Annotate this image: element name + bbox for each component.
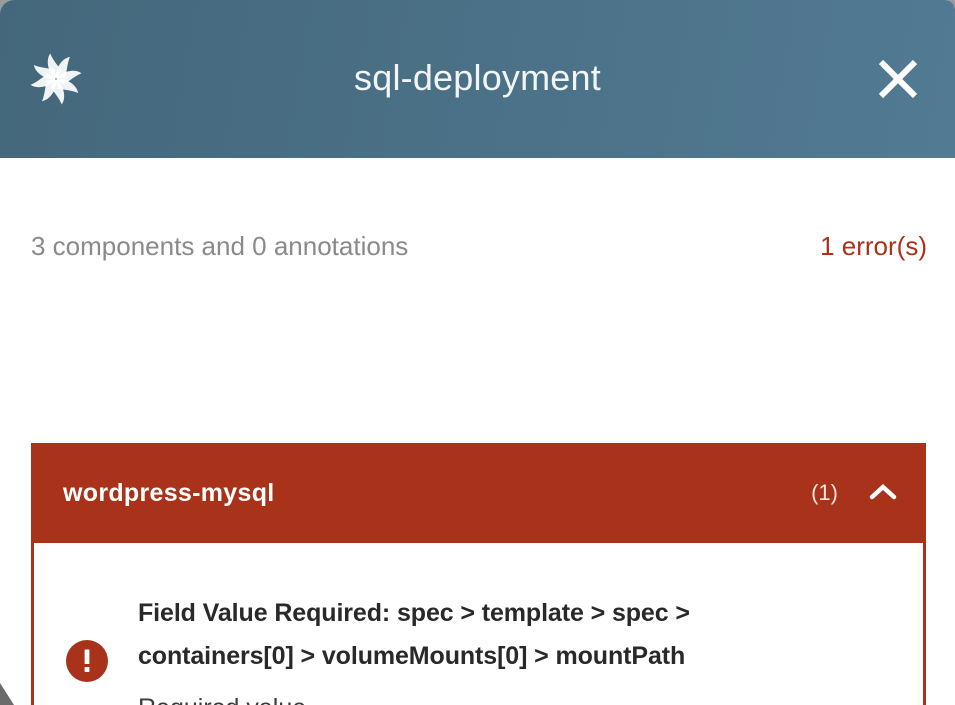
error-count-label: 1 error(s) [820, 229, 927, 263]
error-exclamation-icon [66, 640, 108, 682]
close-button[interactable] [869, 50, 927, 108]
accordion-panel: Field Value Required: spec > template > … [31, 543, 926, 705]
accordion-title: wordpress-mysql [63, 479, 811, 508]
page-title: sql-deployment [0, 50, 955, 106]
summary-row: 3 components and 0 annotations 1 error(s… [31, 226, 927, 266]
close-x-icon [875, 56, 921, 102]
modal-header: sql-deployment [0, 0, 955, 158]
error-title: Field Value Required: spec > template > … [138, 592, 738, 678]
component-accordion: wordpress-mysql (1) [31, 443, 926, 705]
chevron-up-icon[interactable] [866, 476, 900, 510]
error-detail: Required value [138, 687, 893, 705]
modal-body: 3 components and 0 annotations 1 error(s… [0, 158, 955, 705]
error-list-item: Field Value Required: spec > template > … [66, 592, 893, 705]
accordion-header-wordpress-mysql[interactable]: wordpress-mysql (1) [31, 443, 926, 543]
error-text-block: Field Value Required: spec > template > … [138, 592, 893, 705]
accordion-error-count: (1) [811, 480, 838, 506]
sql-deployment-modal: sql-deployment 3 components and 0 annota… [0, 0, 955, 705]
components-summary-label: 3 components and 0 annotations [31, 229, 408, 263]
